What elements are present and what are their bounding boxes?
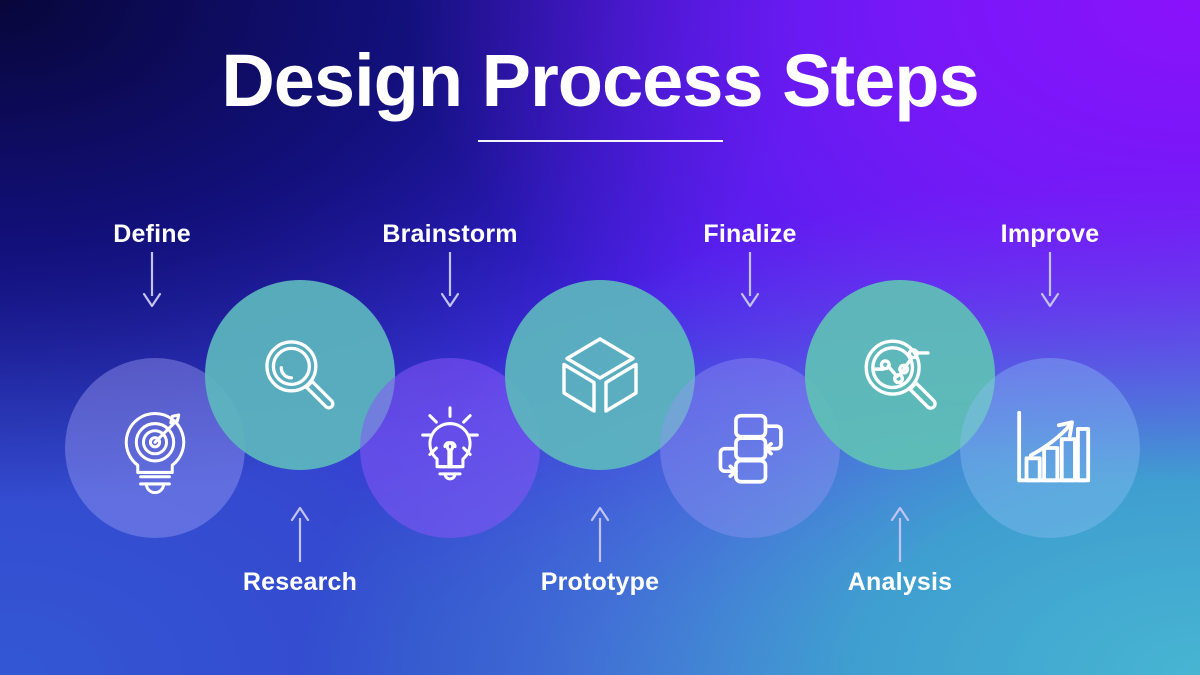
title-text: Design Process Steps <box>0 42 1200 120</box>
step-label-finalize: Finalize <box>703 220 796 249</box>
step-label-improve: Improve <box>1001 220 1100 249</box>
page-title: Design Process Steps <box>0 42 1200 142</box>
arrow-up-prototype <box>589 506 611 562</box>
bar-chart-growth-icon <box>1003 401 1097 495</box>
flowchart-icon <box>705 403 795 493</box>
cube-icon <box>552 327 648 423</box>
step-label-analysis: Analysis <box>848 568 952 597</box>
arrow-up-analysis <box>889 506 911 562</box>
arrow-up-research <box>289 506 311 562</box>
arrow-down-finalize <box>739 252 761 308</box>
step-label-prototype: Prototype <box>541 568 659 597</box>
arrow-down-brainstorm <box>439 252 461 308</box>
lightbulb-target-icon <box>109 402 201 494</box>
magnifier-chart-icon <box>853 328 947 422</box>
step-label-define: Define <box>113 220 191 249</box>
step-label-research: Research <box>243 568 357 597</box>
title-underline-rule <box>478 140 723 142</box>
step-label-brainstorm: Brainstorm <box>382 220 517 249</box>
step-circle-improve[interactable] <box>960 358 1140 538</box>
lightbulb-icon <box>404 402 496 494</box>
arrow-down-improve <box>1039 252 1061 308</box>
arrow-down-define <box>141 252 163 308</box>
magnifier-icon <box>254 329 346 421</box>
